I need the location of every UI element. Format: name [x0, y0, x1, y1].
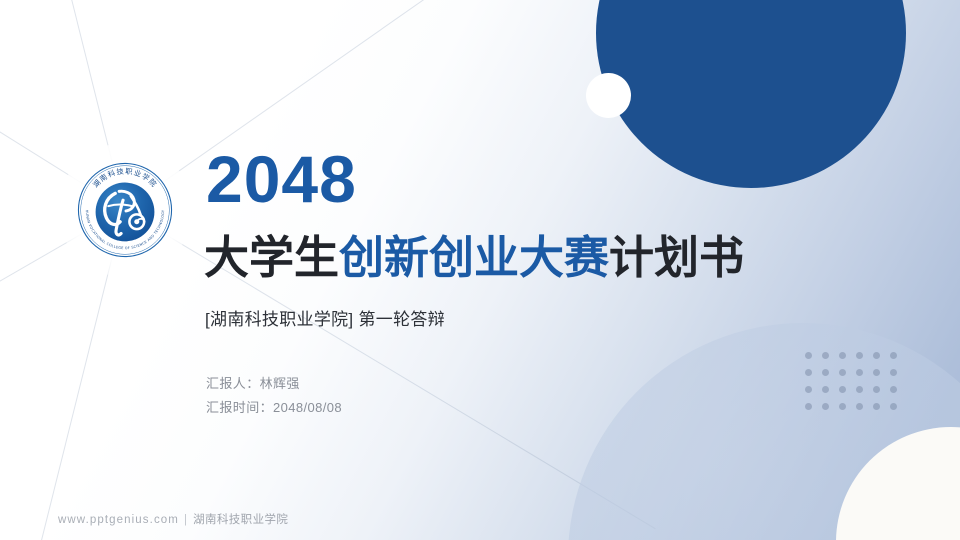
presenter-line: 汇报人：林辉强: [206, 372, 342, 396]
date-line: 汇报时间：2048/08/08: [206, 396, 342, 420]
navy-circle-shape: [596, 0, 906, 188]
cream-circle-shape: [836, 427, 960, 540]
footer-separator: |: [184, 514, 188, 526]
page-title: 大学生创新创业大赛计划书: [204, 232, 744, 284]
headline-accent: 创新创业大赛: [339, 232, 609, 283]
slide-subtitle: [湖南科技职业学院] 第一轮答辩: [205, 305, 445, 330]
footer: www.pptgenius.com|湖南科技职业学院: [58, 511, 288, 527]
presentation-slide: 湖南科技职业学院 HUNAN VOCATIONAL COLLEGE OF SCI…: [0, 0, 960, 540]
footer-organization: 湖南科技职业学院: [193, 514, 288, 526]
soft-blue-circle-shape: [568, 323, 960, 540]
white-circle-accent-shape: [586, 73, 631, 118]
presentation-meta: 汇报人：林辉强 汇报时间：2048/08/08: [206, 372, 342, 420]
dot-grid-pattern: [805, 352, 907, 420]
headline-lead: 大学生: [204, 232, 339, 283]
title-year: 2048: [206, 146, 357, 212]
footer-website: www.pptgenius.com: [58, 514, 179, 526]
university-logo-icon: 湖南科技职业学院 HUNAN VOCATIONAL COLLEGE OF SCI…: [76, 161, 174, 259]
headline-tail: 计划书: [609, 232, 744, 283]
radiating-line: [124, 0, 632, 210]
